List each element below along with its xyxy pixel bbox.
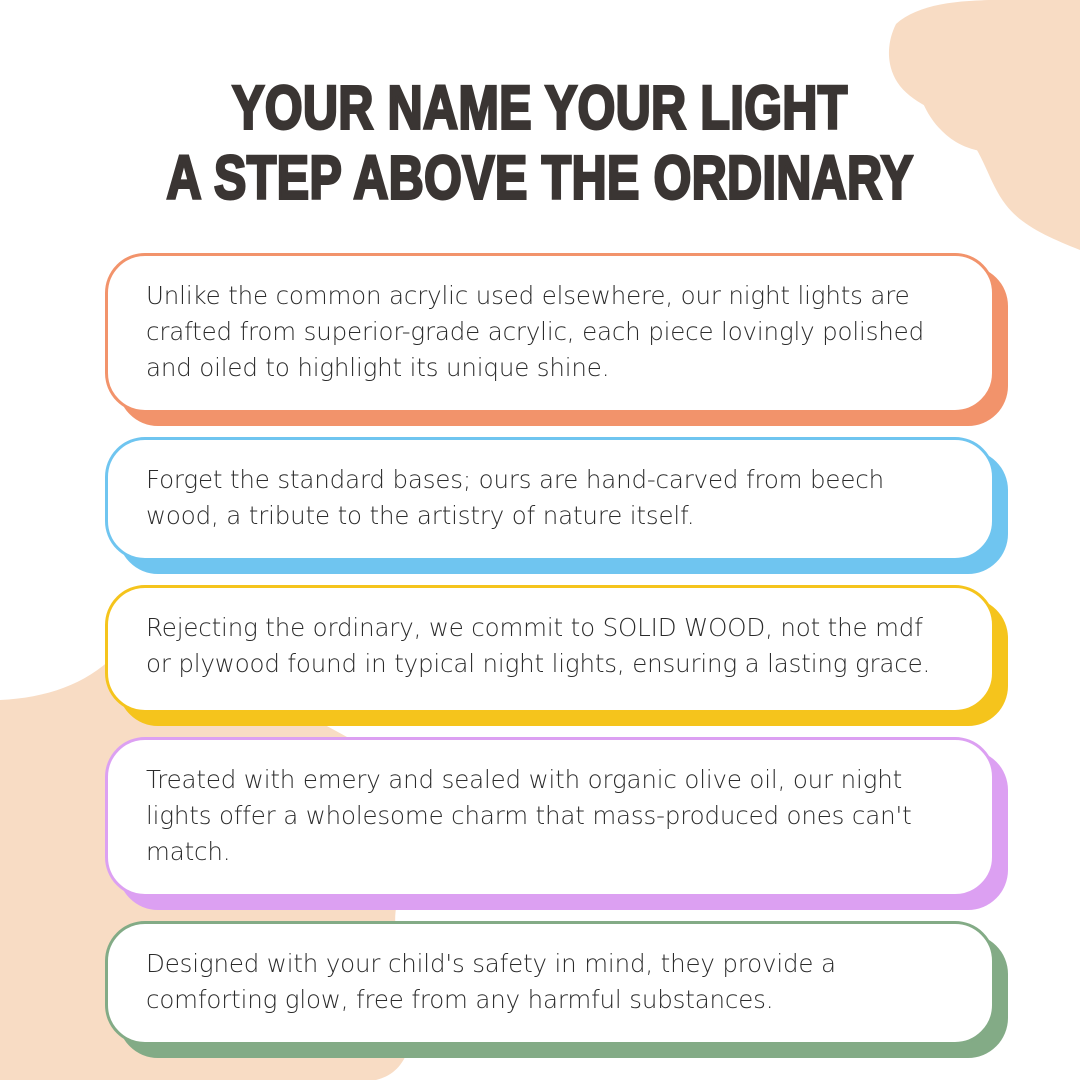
card-face-5: Designed with your child's safety in min… [105,921,995,1045]
feature-card-list: Unlike the common acrylic used elsewhere… [105,253,995,1045]
card-text-2: Forget the standard bases; ours are hand… [146,462,954,534]
title-line-1: YOUR NAME YOUR LIGHT [65,68,1015,146]
page-title: YOUR NAME YOUR LIGHT A STEP ABOVE THE OR… [0,72,1080,212]
feature-card-4: Treated with emery and sealed with organ… [105,737,995,897]
poster-canvas: YOUR NAME YOUR LIGHT A STEP ABOVE THE OR… [0,0,1080,1080]
card-face-3: Rejecting the ordinary, we commit to SOL… [105,585,995,713]
title-line-2: A STEP ABOVE THE ORDINARY [65,138,1015,216]
feature-card-5: Designed with your child's safety in min… [105,921,995,1045]
card-face-4: Treated with emery and sealed with organ… [105,737,995,897]
card-text-5: Designed with your child's safety in min… [146,946,954,1018]
card-face-2: Forget the standard bases; ours are hand… [105,437,995,561]
card-face-1: Unlike the common acrylic used elsewhere… [105,253,995,413]
feature-card-1: Unlike the common acrylic used elsewhere… [105,253,995,413]
feature-card-3: Rejecting the ordinary, we commit to SOL… [105,585,995,713]
card-text-1: Unlike the common acrylic used elsewhere… [146,278,954,386]
card-text-4: Treated with emery and sealed with organ… [146,762,954,870]
card-text-3: Rejecting the ordinary, we commit to SOL… [146,610,954,682]
feature-card-2: Forget the standard bases; ours are hand… [105,437,995,561]
